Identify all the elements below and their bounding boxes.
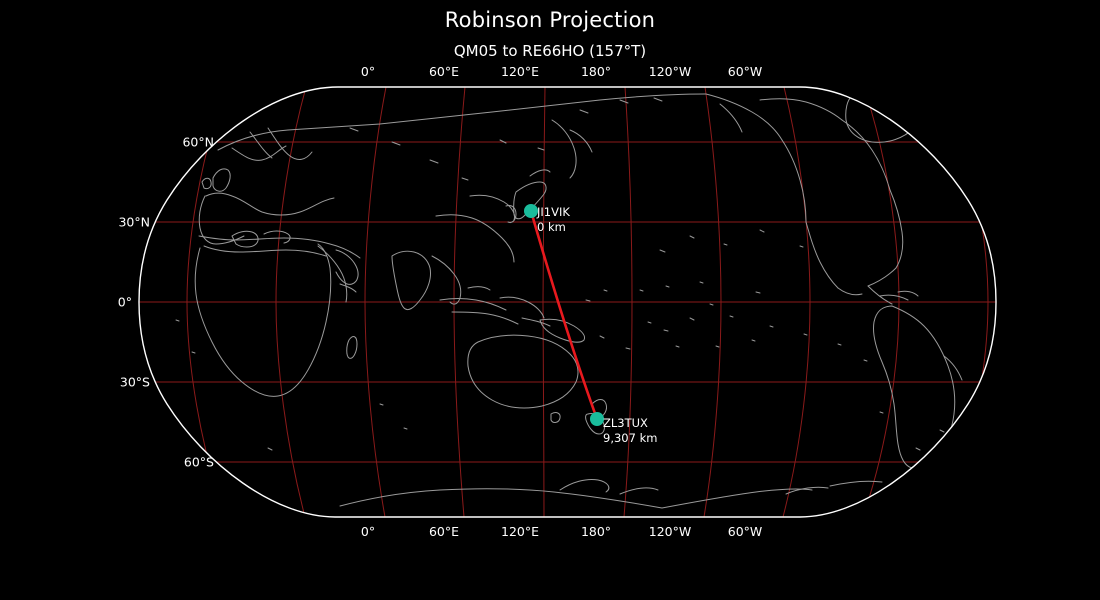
lat-tick-60s: 60°S (174, 455, 214, 470)
lon-tick-top-4: 120°W (649, 64, 691, 79)
great-circle-path (531, 211, 597, 419)
station-marker-origin[interactable] (524, 204, 538, 218)
lon-tick-top-2: 120°E (501, 64, 539, 79)
station-distance-origin: 0 km (537, 220, 570, 235)
station-annotation-destination: ZL3TUX 9,307 km (603, 416, 657, 445)
lon-tick-bottom-0: 0° (361, 524, 375, 539)
lon-tick-bottom-5: 60°W (728, 524, 763, 539)
lon-tick-bottom-3: 180° (581, 524, 611, 539)
lat-tick-30s: 30°S (110, 375, 150, 390)
coastlines (176, 94, 966, 508)
lon-tick-bottom-1: 60°E (429, 524, 459, 539)
station-distance-destination: 9,307 km (603, 431, 657, 446)
lon-tick-top-1: 60°E (429, 64, 459, 79)
station-annotation-origin: JI1VIK 0 km (537, 205, 570, 234)
lon-tick-top-3: 180° (581, 64, 611, 79)
lat-tick-60n: 60°N (174, 135, 214, 150)
lon-tick-bottom-2: 120°E (501, 524, 539, 539)
station-callsign-destination: ZL3TUX (603, 416, 648, 430)
lon-tick-bottom-4: 120°W (649, 524, 691, 539)
map-figure: Robinson Projection QM05 to RE66HO (157°… (0, 0, 1100, 600)
lat-tick-0: 0° (92, 295, 132, 310)
graticule-parallels (120, 142, 1000, 462)
lat-tick-30n: 30°N (110, 215, 150, 230)
lon-tick-top-0: 0° (361, 64, 375, 79)
lon-tick-top-5: 60°W (728, 64, 763, 79)
robinson-map[interactable]: 0° 60°E 120°E 180° 120°W 60°W 0° 60°E 12… (0, 0, 1100, 600)
map-canvas (0, 0, 1100, 600)
station-marker-destination[interactable] (590, 412, 604, 426)
station-callsign-origin: JI1VIK (537, 205, 570, 219)
